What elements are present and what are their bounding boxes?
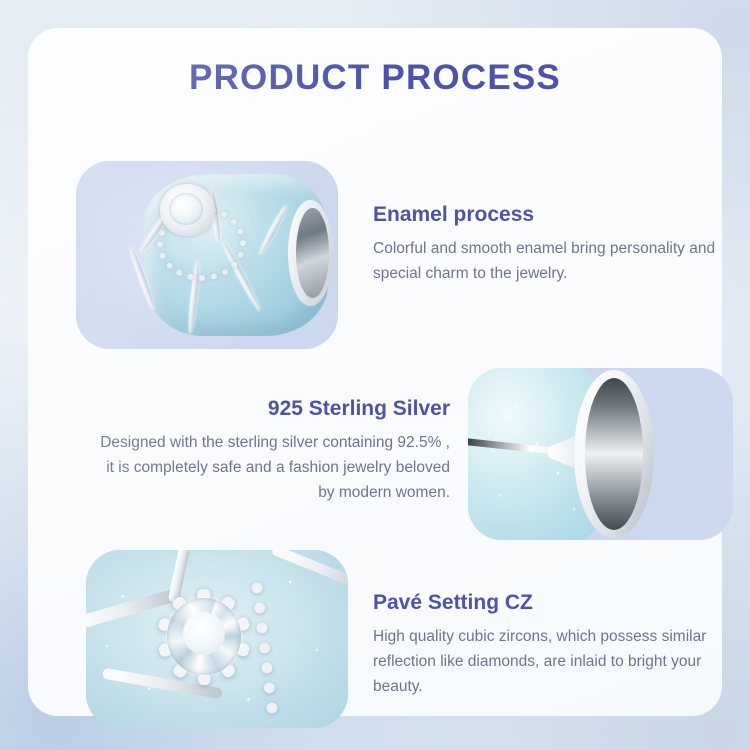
infographic-page: PRODUCT PROCESS xyxy=(0,0,750,750)
product-image-pave-setting-cz[interactable] xyxy=(86,550,348,728)
product-image-enamel-process[interactable] xyxy=(76,161,338,349)
enamel-flower-bead-illustration xyxy=(76,161,338,349)
text-block-enamel-process: Enamel process Colorful and smooth ename… xyxy=(373,202,745,286)
product-image-sterling-silver[interactable] xyxy=(468,368,733,540)
section-heading-enamel-process: Enamel process xyxy=(373,202,745,227)
content-card: PRODUCT PROCESS xyxy=(28,28,722,716)
section-heading-pave-setting-cz: Pavé Setting CZ xyxy=(373,590,745,615)
section-body-pave-setting-cz: High quality cubic zircons, which posses… xyxy=(373,624,745,699)
section-body-sterling-silver: Designed with the sterling silver contai… xyxy=(90,430,450,505)
section-body-enamel-process: Colorful and smooth enamel bring persona… xyxy=(373,236,745,286)
text-block-sterling-silver: 925 Sterling Silver Designed with the st… xyxy=(90,396,450,506)
silver-bead-core-illustration xyxy=(468,368,733,540)
page-title: PRODUCT PROCESS xyxy=(28,58,722,98)
text-block-pave-setting-cz: Pavé Setting CZ High quality cubic zirco… xyxy=(373,590,745,700)
cubic-zirconia-bezel-illustration xyxy=(86,550,348,728)
section-heading-sterling-silver: 925 Sterling Silver xyxy=(90,396,450,421)
